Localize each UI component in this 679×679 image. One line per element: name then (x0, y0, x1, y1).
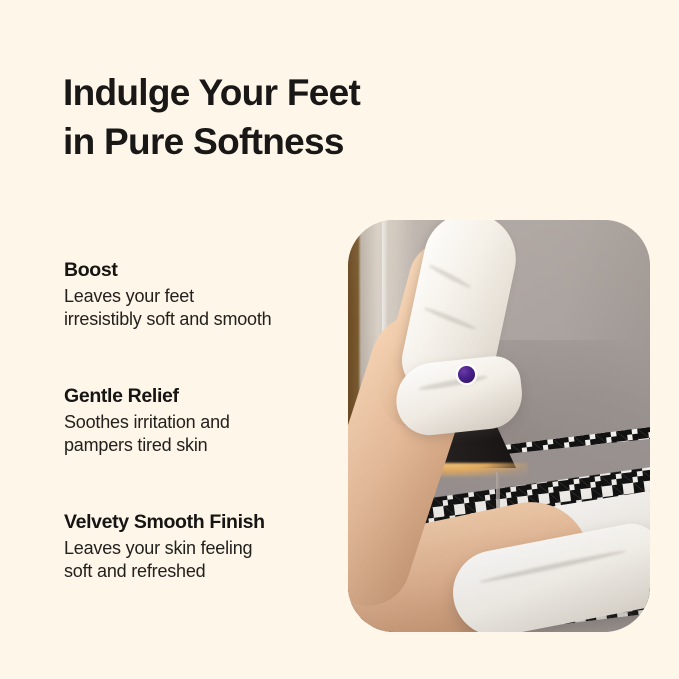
product-lifestyle-photo (348, 220, 650, 632)
page-title: Indulge Your Feet in Pure Softness (63, 68, 393, 166)
feature-description-boost: Leaves your feet irresistibly soft and s… (64, 285, 314, 331)
feature-list: Boost Leaves your feet irresistibly soft… (64, 258, 314, 583)
feature-description-line: Soothes irritation and (64, 411, 314, 434)
feature-description-line: Leaves your feet (64, 285, 314, 308)
page-title-line-1: Indulge Your Feet (63, 68, 393, 117)
feature-title-boost: Boost (64, 258, 314, 283)
sock-button-accent (458, 366, 475, 383)
list-item: Velvety Smooth Finish Leaves your skin f… (64, 510, 314, 583)
feature-description-line: Leaves your skin feeling (64, 537, 314, 560)
feature-description-line: soft and refreshed (64, 560, 314, 583)
list-item: Boost Leaves your feet irresistibly soft… (64, 258, 314, 331)
page-title-line-2: in Pure Softness (63, 117, 393, 166)
feature-description-line: pampers tired skin (64, 434, 314, 457)
feature-description-velvety-smooth-finish: Leaves your skin feeling soft and refres… (64, 537, 314, 583)
feature-title-gentle-relief: Gentle Relief (64, 384, 314, 409)
feature-description-gentle-relief: Soothes irritation and pampers tired ski… (64, 411, 314, 457)
product-feature-banner: Indulge Your Feet in Pure Softness Boost… (0, 0, 679, 679)
feature-description-line: irresistibly soft and smooth (64, 308, 314, 331)
feature-title-velvety-smooth-finish: Velvety Smooth Finish (64, 510, 314, 535)
list-item: Gentle Relief Soothes irritation and pam… (64, 384, 314, 457)
